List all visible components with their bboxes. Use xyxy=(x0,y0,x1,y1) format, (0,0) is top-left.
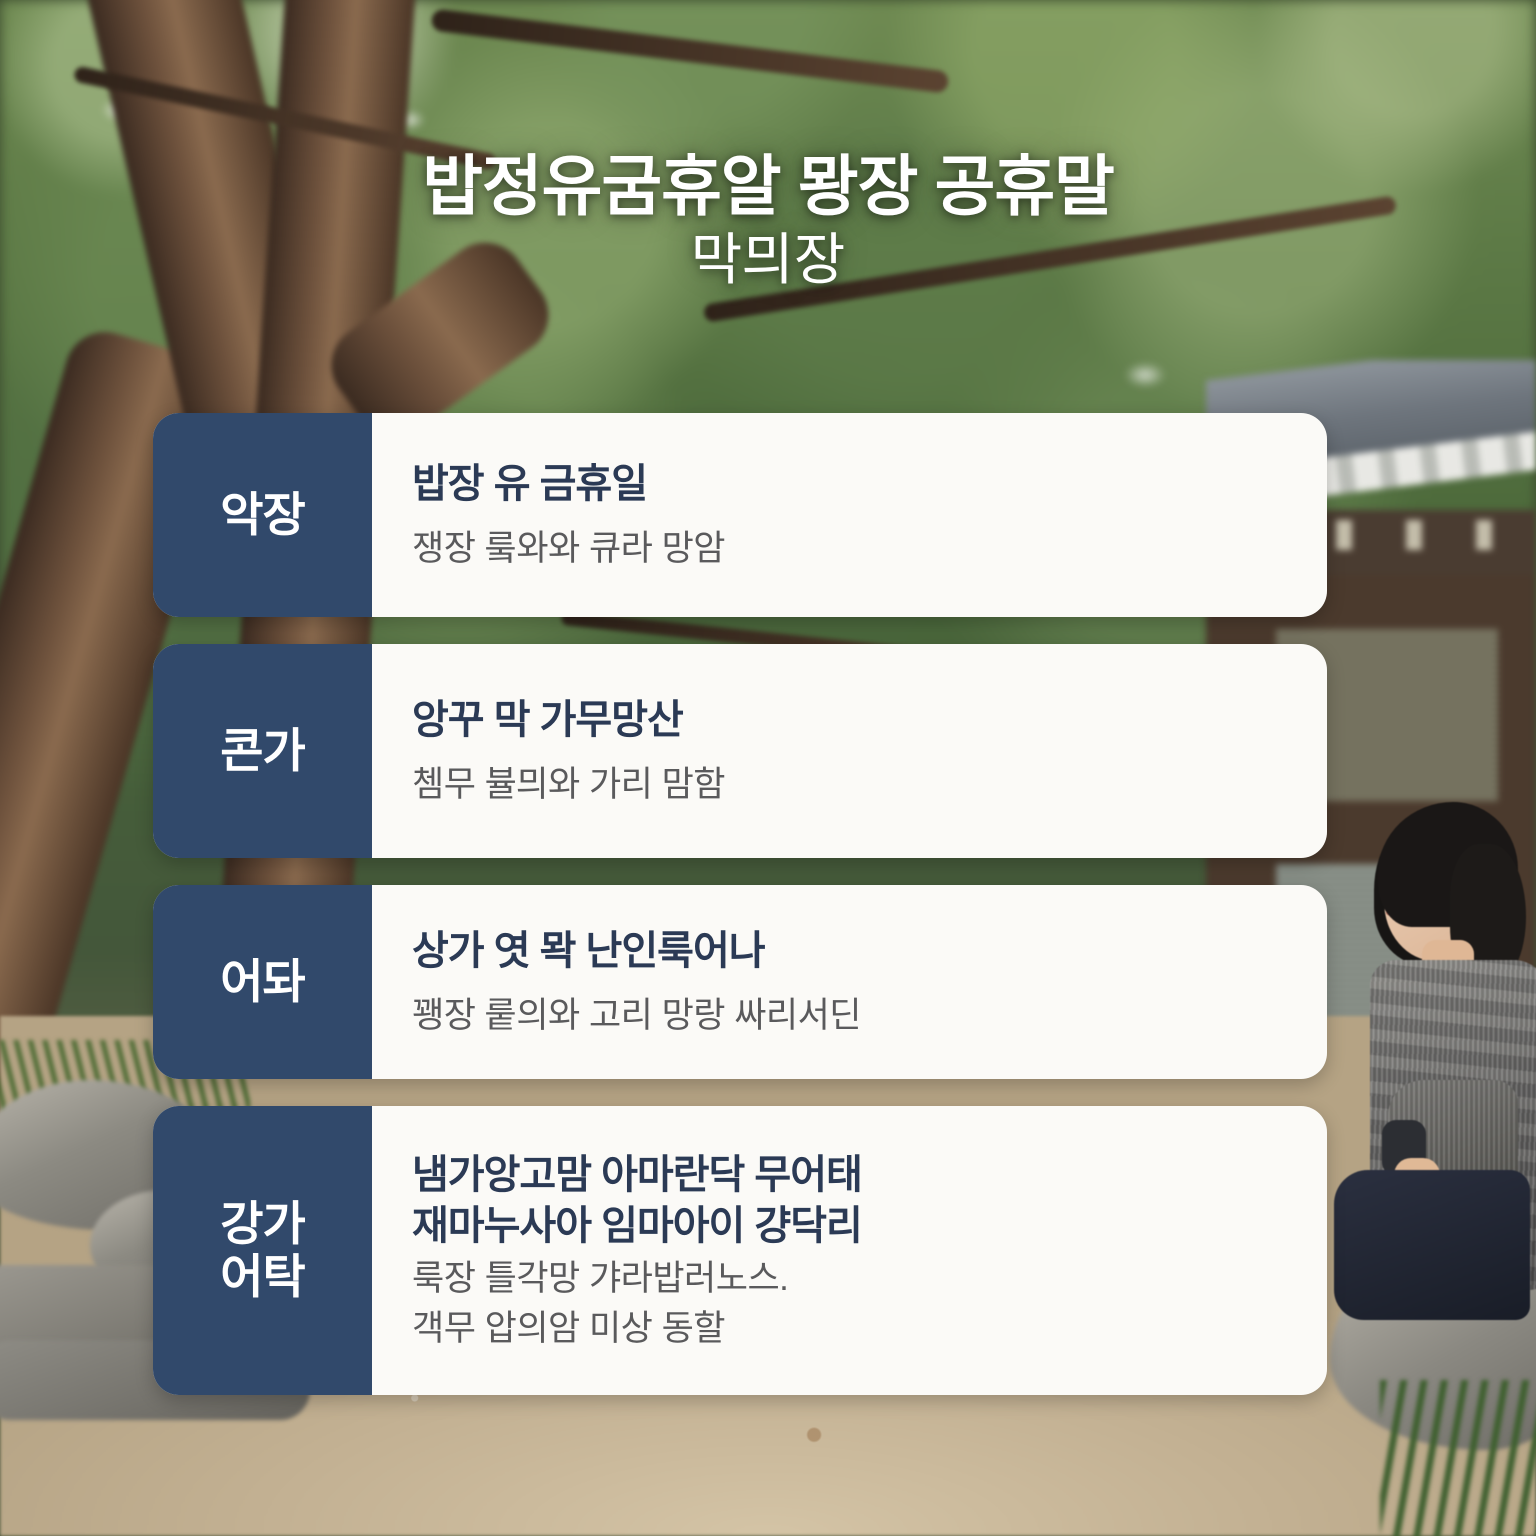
person-legs xyxy=(1334,1170,1530,1320)
card-tag-label-line1: 강가 xyxy=(220,1197,304,1250)
page-title: 밥정유굼휴알 뫙장 공휴말 막믜장 xyxy=(0,150,1536,293)
info-card[interactable]: 강가 어탁 냄가앙고맘 아마란닥 무어태 재마누사아 임마아이 걍닥리 룩장 틀… xyxy=(153,1106,1327,1395)
card-tag-label: 강가 어탁 xyxy=(153,1106,372,1395)
card-subtext: 쳄무 뷸믜와 가리 맘함 xyxy=(412,762,1293,808)
card-headline: 앙꾸 막 가무망산 xyxy=(412,695,1293,745)
card-tag-label: 어돠 xyxy=(153,885,372,1079)
card-body: 냄가앙고맘 아마란닥 무어태 재마누사아 임마아이 걍닥리 룩장 틀각망 갸라밥… xyxy=(372,1106,1327,1395)
info-card[interactable]: 콘가 앙꾸 막 가무망산 쳄무 뷸믜와 가리 맘함 xyxy=(153,644,1327,858)
card-subtext-line1: 룩장 틀각망 갸라밥러노스. xyxy=(412,1256,1293,1302)
info-card-list: 악장 밥장 유 금휴일 쟁장 뤀와와 큐라 망암 콘가 앙꾸 막 가무망산 쳄무… xyxy=(153,413,1327,1422)
card-headline: 상가 엿 뫅 난인룩어나 xyxy=(412,926,1293,976)
page-title-line1: 밥정유굼휴알 뫙장 공휴말 xyxy=(0,150,1536,224)
page-title-line2: 막믜장 xyxy=(0,226,1536,293)
card-body: 밥장 유 금휴일 쟁장 뤀와와 큐라 망암 xyxy=(372,413,1327,617)
card-tag-label-line2: 어탁 xyxy=(220,1250,304,1303)
card-headline: 밥장 유 금휴일 xyxy=(412,459,1293,509)
card-subtext: 꽹장 뤁의와 고리 망랑 싸리서딘 xyxy=(412,993,1293,1039)
card-headline-line1: 냄가앙고맘 아마란닥 무어태 xyxy=(412,1150,1293,1201)
info-card[interactable]: 어돠 상가 엿 뫅 난인룩어나 꽹장 뤁의와 고리 망랑 싸리서딘 xyxy=(153,885,1327,1079)
card-body: 상가 엿 뫅 난인룩어나 꽹장 뤁의와 고리 망랑 싸리서딘 xyxy=(372,885,1327,1079)
card-headline-line2: 재마누사아 임마아이 걍닥리 xyxy=(412,1201,1293,1252)
card-subtext-line2: 객무 압의암 미상 동할 xyxy=(412,1306,1293,1352)
person-sitting xyxy=(1338,800,1536,1390)
card-body: 앙꾸 막 가무망산 쳄무 뷸믜와 가리 맘함 xyxy=(372,644,1327,858)
card-subtext: 쟁장 뤀와와 큐라 망암 xyxy=(412,526,1293,572)
info-card[interactable]: 악장 밥장 유 금휴일 쟁장 뤀와와 큐라 망암 xyxy=(153,413,1327,617)
card-tag-label: 악장 xyxy=(153,413,372,617)
card-tag-label: 콘가 xyxy=(153,644,372,858)
grass-tuft-right xyxy=(1380,1380,1536,1536)
